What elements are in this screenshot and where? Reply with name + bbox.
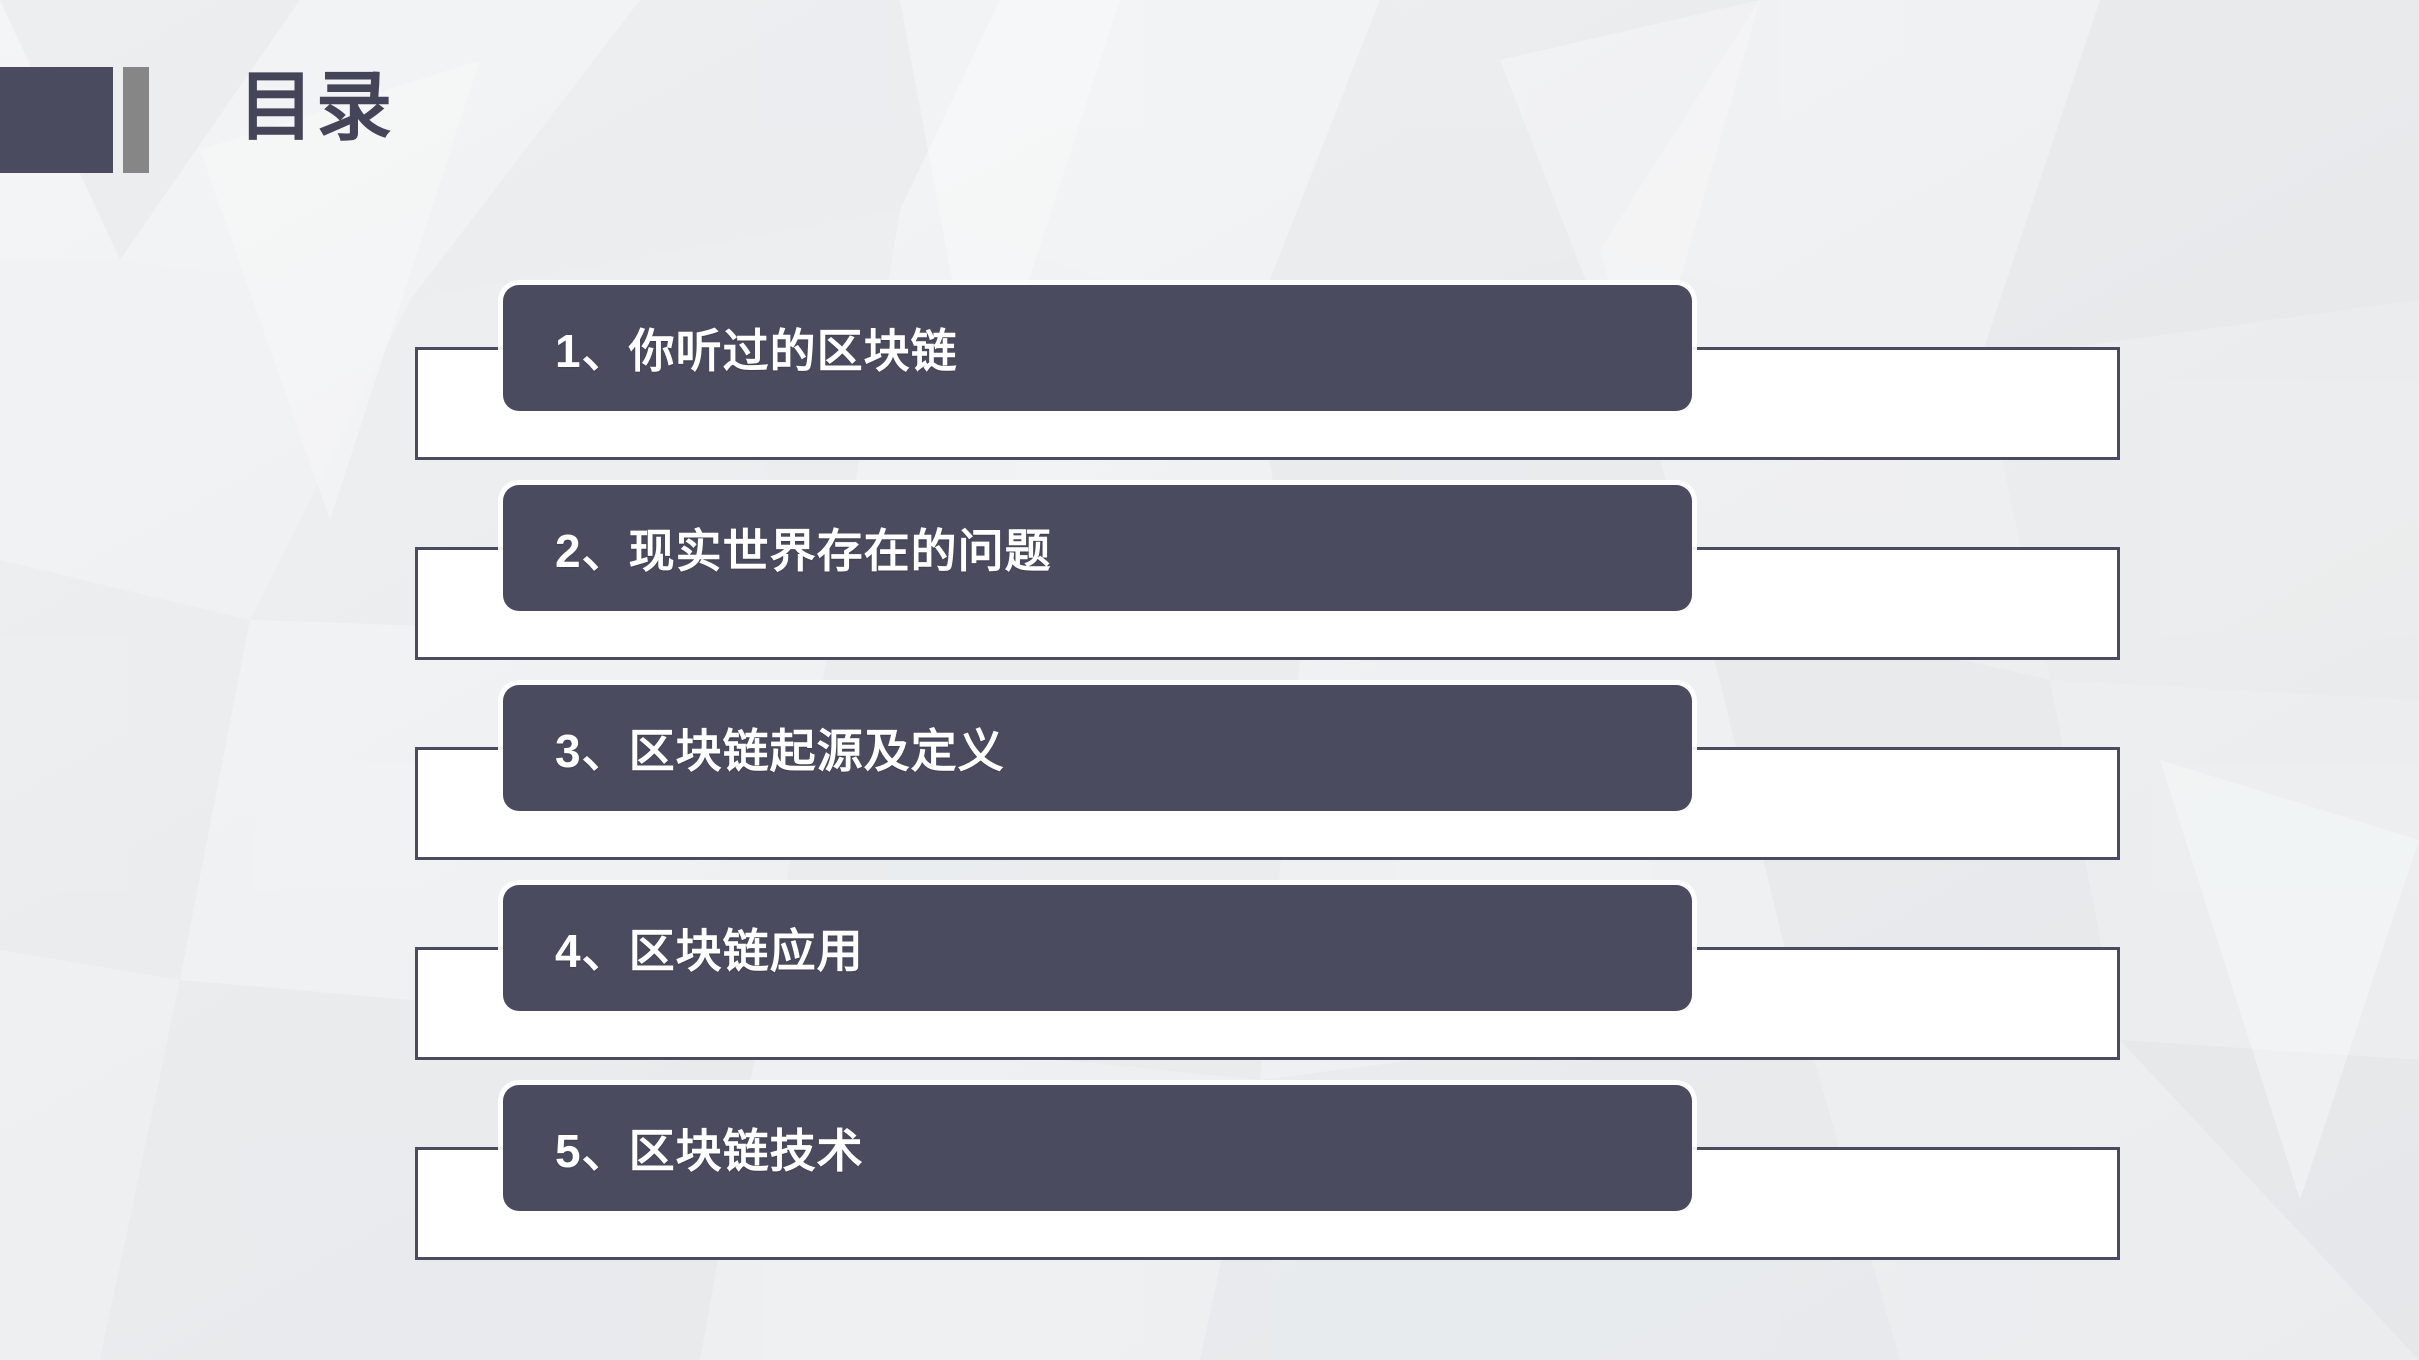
list-item[interactable]: 1、你听过的区块链 — [0, 285, 2419, 485]
toc-item-bar[interactable]: 3、区块链起源及定义 — [503, 685, 1692, 811]
toc-item-label: 3、区块链起源及定义 — [555, 715, 1005, 781]
list-item[interactable]: 5、区块链技术 — [0, 1085, 2419, 1285]
list-item[interactable]: 3、区块链起源及定义 — [0, 685, 2419, 885]
slide-canvas: 目录 1、你听过的区块链 2、现实世界存在的问题 3、区块链起源及定义 4、区块… — [0, 0, 2419, 1360]
toc-item-label: 2、现实世界存在的问题 — [555, 515, 1052, 581]
toc-item-bar[interactable]: 5、区块链技术 — [503, 1085, 1692, 1211]
toc-item-label: 1、你听过的区块链 — [555, 315, 958, 381]
toc-item-bar[interactable]: 1、你听过的区块链 — [503, 285, 1692, 411]
table-of-contents-list: 1、你听过的区块链 2、现实世界存在的问题 3、区块链起源及定义 4、区块链应用 — [0, 0, 2419, 1360]
toc-item-bar[interactable]: 4、区块链应用 — [503, 885, 1692, 1011]
list-item[interactable]: 4、区块链应用 — [0, 885, 2419, 1085]
toc-item-bar[interactable]: 2、现实世界存在的问题 — [503, 485, 1692, 611]
toc-item-label: 5、区块链技术 — [555, 1115, 864, 1181]
list-item[interactable]: 2、现实世界存在的问题 — [0, 485, 2419, 685]
toc-item-label: 4、区块链应用 — [555, 915, 864, 981]
